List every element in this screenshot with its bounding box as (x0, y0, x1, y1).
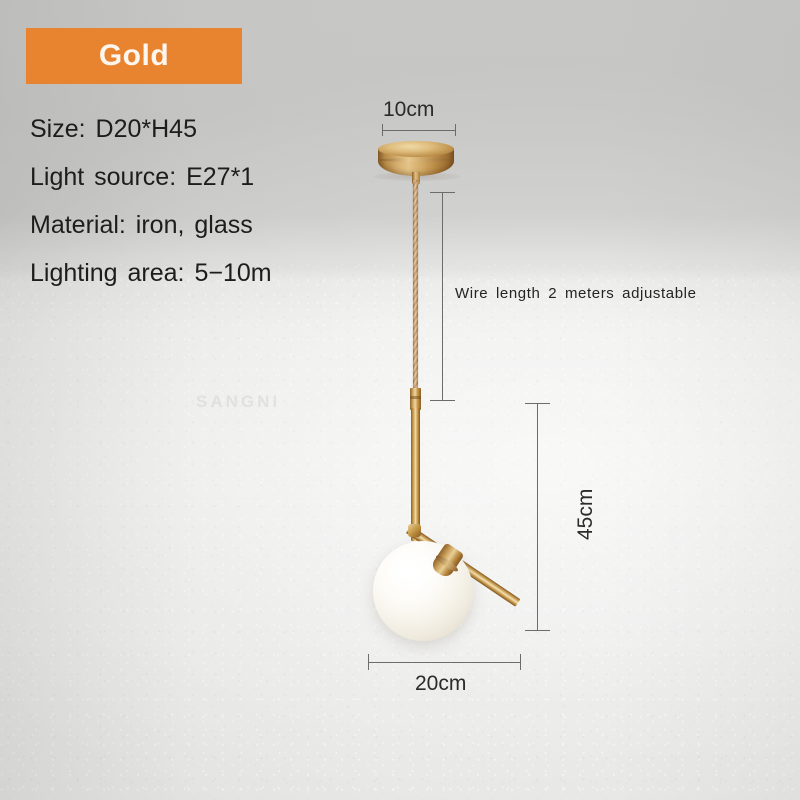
wire-length-note: Wire length 2 meters adjustable (455, 285, 697, 302)
dimension-tick-wire-bottom (430, 400, 455, 401)
dimension-tick-canopy-right (455, 124, 456, 136)
vertical-gold-rod (411, 408, 420, 541)
cord-highlight (413, 180, 418, 395)
product-spec-image: SANGNI Gold Size: D20*H45 Light source: … (0, 0, 800, 800)
dimension-line-wire-length (442, 192, 443, 401)
dimension-label-height: 45cm (574, 489, 598, 540)
rod-elbow-joint (408, 524, 421, 537)
cord-rod-connector (410, 388, 421, 410)
canopy-groove (379, 158, 453, 162)
ceiling-canopy (378, 141, 454, 179)
dimension-label-globe-width: 20cm (415, 672, 466, 696)
connector-band (410, 396, 421, 399)
dimension-tick-height-bottom (525, 630, 550, 631)
dimension-tick-globe-left (368, 654, 369, 670)
dimension-line-height (537, 403, 538, 631)
dimension-label-canopy-width: 10cm (383, 98, 434, 122)
dimension-tick-canopy-left (382, 124, 383, 136)
dimension-line-globe-width (368, 662, 521, 663)
dimension-tick-globe-right (520, 654, 521, 670)
canopy-top-face (378, 141, 454, 157)
dimension-tick-wire-top (430, 192, 455, 193)
globe-highlight (388, 552, 432, 590)
dimension-tick-height-top (525, 403, 550, 404)
dimension-line-canopy-width (382, 130, 456, 131)
